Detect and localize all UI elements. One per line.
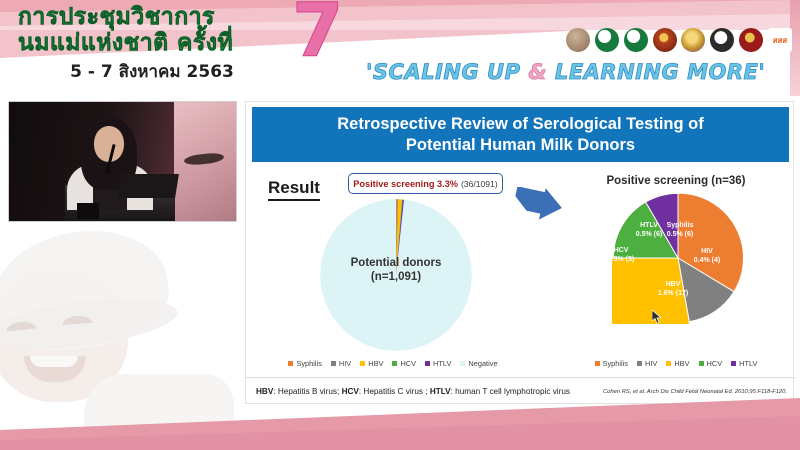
potential-donors-center-label: Potential donors (n=1,091): [317, 256, 475, 284]
edition-number: 7: [292, 0, 344, 68]
legend-label-hcv: HCV: [400, 359, 416, 368]
logo-ministry-health-1: [595, 28, 619, 52]
legend-swatch-syphilis-right: [595, 361, 600, 366]
legend-label-hcv-right: HCV: [707, 359, 723, 368]
thai-title-line2: นมแม่แห่งชาติ ครั้งที่: [18, 30, 318, 56]
mouse-cursor-icon: [652, 310, 663, 324]
slice-name-hiv: HIV: [701, 248, 713, 255]
logo-ministry-health-2: [624, 28, 648, 52]
slice-name-hbv: HBV: [666, 281, 681, 288]
thai-title-line1: การประชุมวิชาการ: [18, 4, 318, 30]
legend-item-htlv-right[interactable]: HTLV: [731, 359, 757, 368]
speaker-video-feed[interactable]: [8, 101, 237, 222]
legend-label-syphilis-right: Syphilis: [603, 359, 628, 368]
slice-pct-hbv: 1.6%: [658, 290, 674, 297]
legend-label-hbv-right: HBV: [674, 359, 689, 368]
legend-swatch-hiv: [331, 361, 336, 366]
slide-title-line1: Retrospective Review of Serological Test…: [337, 114, 703, 135]
legend-label-hiv: HIV: [339, 359, 351, 368]
slice-pct-hiv: 0.4%: [694, 257, 710, 264]
citation-text: Cohen RS, et al. Arch Dis Child Fetal Ne…: [603, 389, 787, 395]
video-projection-face: [174, 102, 236, 222]
legend-item-syphilis[interactable]: Syphilis: [288, 359, 321, 368]
legend-swatch-hbv: [360, 361, 365, 366]
legend-label-negative: Negative: [468, 359, 497, 368]
legend-item-hbv[interactable]: HBV: [360, 359, 383, 368]
logo-royal-seal: [566, 28, 590, 52]
logo-thaihealth: สสส: [768, 28, 792, 52]
slice-pct-htlv: 0.5%: [636, 231, 652, 238]
positive-screening-legend: Syphilis HIV HBV HCV HTLV: [561, 359, 791, 368]
baby-photo-fade-overlay: [0, 224, 244, 430]
tagline-part-2: LEARNING MORE': [547, 60, 765, 84]
potential-donors-legend: Syphilis HIV HBV HCV HTLV Negative: [268, 359, 518, 368]
legend-item-hbv-right[interactable]: HBV: [666, 359, 689, 368]
positive-screening-chart: Syphilis 0.5% (6) HIV 0.4% (4) HBV 1.6% …: [576, 192, 776, 352]
tagline-ampersand: &: [528, 60, 547, 84]
slice-count-hcv: (3): [626, 256, 635, 263]
projected-eye: [184, 152, 225, 166]
potential-donors-title: Potential donors: [317, 256, 475, 270]
potential-donors-subtitle: (n=1,091): [317, 270, 475, 284]
slice-label-htlv: HTLV 0.5% (6): [630, 222, 668, 239]
slice-name-syphilis: Syphilis: [667, 222, 694, 229]
slice-label-hcv: HCV 0.3% (3): [603, 247, 639, 264]
slice-pct-hcv: 0.3%: [608, 256, 624, 263]
logo-red-crest: [739, 28, 763, 52]
callout-main-text: Positive screening 3.3%: [353, 179, 458, 189]
logo-royal-crest: [681, 28, 705, 52]
legend-swatch-hiv-right: [637, 361, 642, 366]
legend-swatch-htlv-right: [731, 361, 736, 366]
legend-label-hbv: HBV: [368, 359, 383, 368]
slice-count-hiv: (4): [712, 257, 721, 264]
slice-label-hiv: HIV 0.4% (4): [688, 248, 726, 265]
slice-pct-syphilis: 0.5%: [667, 231, 683, 238]
legend-item-hcv[interactable]: HCV: [392, 359, 416, 368]
legend-item-htlv[interactable]: HTLV: [425, 359, 451, 368]
callout-fraction-text: (36/1091): [461, 179, 498, 189]
slide-title: Retrospective Review of Serological Test…: [252, 107, 789, 162]
slice-count-syphilis: (6): [685, 231, 694, 238]
legend-label-syphilis: Syphilis: [296, 359, 321, 368]
presentation-slide: Retrospective Review of Serological Test…: [245, 101, 794, 404]
sponsor-logos: สสส: [566, 26, 792, 54]
legend-item-hcv-right[interactable]: HCV: [699, 359, 723, 368]
legend-item-hiv-right[interactable]: HIV: [637, 359, 657, 368]
legend-swatch-negative: [460, 361, 465, 366]
legend-item-negative[interactable]: Negative: [460, 359, 497, 368]
legend-item-syphilis-right[interactable]: Syphilis: [595, 359, 628, 368]
positive-screening-title: Positive screening (n=36): [566, 175, 786, 187]
conference-title-thai: การประชุมวิชาการ นมแม่แห่งชาติ ครั้งที่ …: [18, 4, 318, 85]
legend-swatch-hcv-right: [699, 361, 704, 366]
tagline-part-1: 'SCALING UP: [366, 60, 528, 84]
legend-swatch-hcv: [392, 361, 397, 366]
logo-university: [710, 28, 734, 52]
slice-count-hbv: (17): [676, 290, 688, 297]
abbreviation-note: HBV: Hepatitis B virus; HCV: Hepatitis C…: [256, 387, 570, 396]
legend-swatch-syphilis: [288, 361, 293, 366]
positive-screening-callout: Positive screening 3.3% (36/1091): [348, 173, 503, 194]
conference-tagline: 'SCALING UP & LEARNING MORE': [366, 60, 786, 84]
slide-title-line2: Potential Human Milk Donors: [406, 135, 635, 156]
slice-name-htlv: HTLV: [640, 222, 658, 229]
logo-temple-emblem: [653, 28, 677, 52]
legend-label-htlv: HTLV: [433, 359, 451, 368]
potential-donors-chart: Potential donors (n=1,091): [272, 194, 522, 359]
podium-plate: [77, 203, 99, 219]
legend-swatch-htlv: [425, 361, 430, 366]
slice-name-hcv: HCV: [614, 247, 629, 254]
legend-item-hiv[interactable]: HIV: [331, 359, 351, 368]
conference-date: 5 - 7 สิงหาคม 2563: [18, 58, 286, 85]
legend-swatch-hbv-right: [666, 361, 671, 366]
slice-count-htlv: (6): [654, 231, 663, 238]
slice-label-hbv: HBV 1.6% (17): [652, 281, 694, 298]
slide-footnote: HBV: Hepatitis B virus; HCV: Hepatitis C…: [246, 377, 795, 405]
laptop: [117, 174, 179, 198]
legend-label-hiv-right: HIV: [645, 359, 657, 368]
conference-banner: การประชุมวิชาการ นมแม่แห่งชาติ ครั้งที่ …: [0, 0, 800, 96]
legend-label-htlv-right: HTLV: [739, 359, 757, 368]
